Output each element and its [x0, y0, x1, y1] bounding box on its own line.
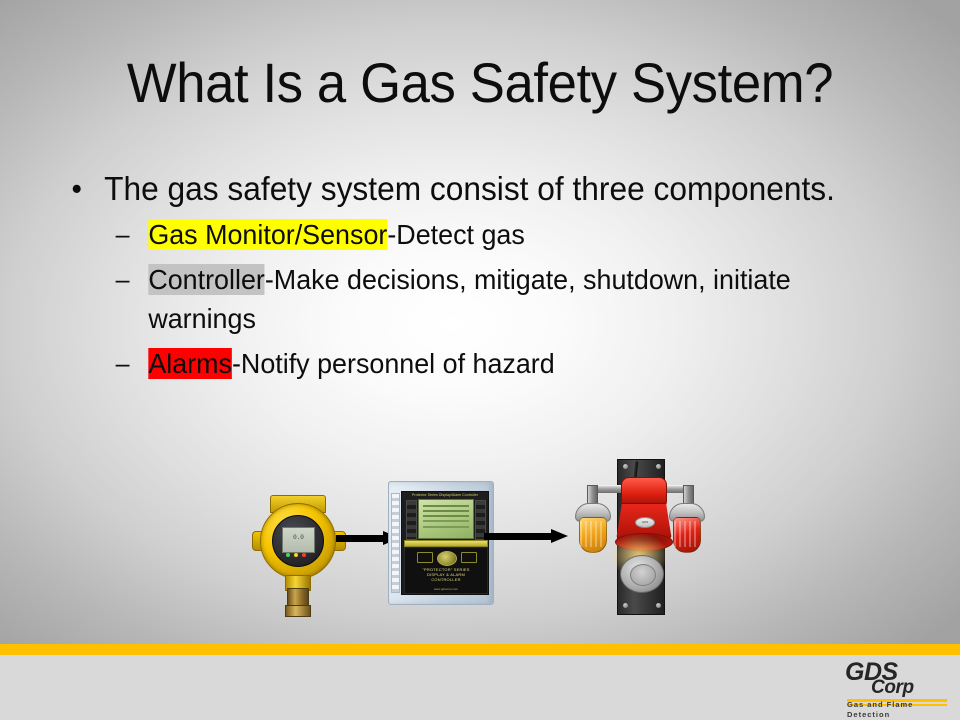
- alarm-beacon-amber: [575, 503, 609, 555]
- arrow-head: [551, 529, 568, 543]
- detector-led-green: [286, 553, 290, 557]
- controller-yellow-bar: [404, 540, 488, 547]
- controller-label-panel: "PROTECTOR" SERIES DISPLAY & ALARM CONTR…: [404, 547, 488, 594]
- slide: What Is a Gas Safety System? • The gas s…: [0, 0, 960, 720]
- logo-corp-text: Corp: [871, 678, 951, 697]
- gas-detector-image: 0.0: [252, 495, 344, 615]
- detector-led-yellow: [294, 553, 298, 557]
- controller-label-line3: CONTROLLER: [405, 577, 487, 582]
- alarm-junction-box: [620, 555, 664, 593]
- controller-label-badge-right: [461, 552, 477, 563]
- alarm-plate-bolt: [656, 603, 661, 608]
- alarm-plate-bolt: [623, 603, 628, 608]
- detector-led-red: [302, 553, 306, 557]
- beacon-ribs: [580, 521, 604, 547]
- detector-lcd-value: 0.0: [283, 534, 314, 541]
- controller-banner-text: Protector Series Display/Alarm Controlle…: [402, 493, 488, 497]
- alarm-plate-bolt: [623, 464, 628, 469]
- beacon-ribs: [674, 521, 698, 547]
- alarm-plate-bolt: [656, 464, 661, 469]
- alarm-junction-box-cover: [630, 564, 656, 586]
- controller-label-logo-icon: [437, 551, 457, 566]
- arrow-shaft: [336, 535, 384, 542]
- footer-band: [0, 655, 960, 720]
- component-diagram: 0.0 Protector Series Display/Alarm Contr…: [0, 0, 960, 720]
- detector-sensor-ring: [285, 605, 311, 617]
- controller-lcd-screen: [418, 499, 474, 539]
- detector-lcd-display: 0.0: [282, 527, 315, 553]
- arrow-controller-to-alarm-icon: [484, 529, 568, 543]
- footer-accent-stripe: [0, 644, 960, 655]
- alarm-assembly-image: GDS: [573, 459, 705, 613]
- controller-label-url: www.gdscorp.com: [405, 587, 487, 591]
- controller-label-text: "PROTECTOR" SERIES DISPLAY & ALARM CONTR…: [405, 567, 487, 582]
- alarm-beacon-red: [669, 503, 703, 555]
- logo-tagline: Gas and Flame Detection: [847, 700, 951, 720]
- alarm-horn-badge-text: GDS: [636, 518, 654, 527]
- controller-front-panel: Protector Series Display/Alarm Controlle…: [401, 491, 489, 595]
- arrow-shaft: [484, 533, 552, 540]
- alarm-horn-badge: GDS: [635, 517, 655, 528]
- controller-image: Protector Series Display/Alarm Controlle…: [388, 481, 492, 603]
- controller-hinge: [391, 493, 400, 593]
- controller-lcd-lines: [423, 505, 469, 507]
- controller-keypad-left: [406, 500, 417, 540]
- gds-corp-logo: GDS Corp Gas and Flame Detection: [845, 660, 951, 712]
- controller-label-badge-left: [417, 552, 433, 563]
- alarm-horn-mouth: [615, 533, 673, 551]
